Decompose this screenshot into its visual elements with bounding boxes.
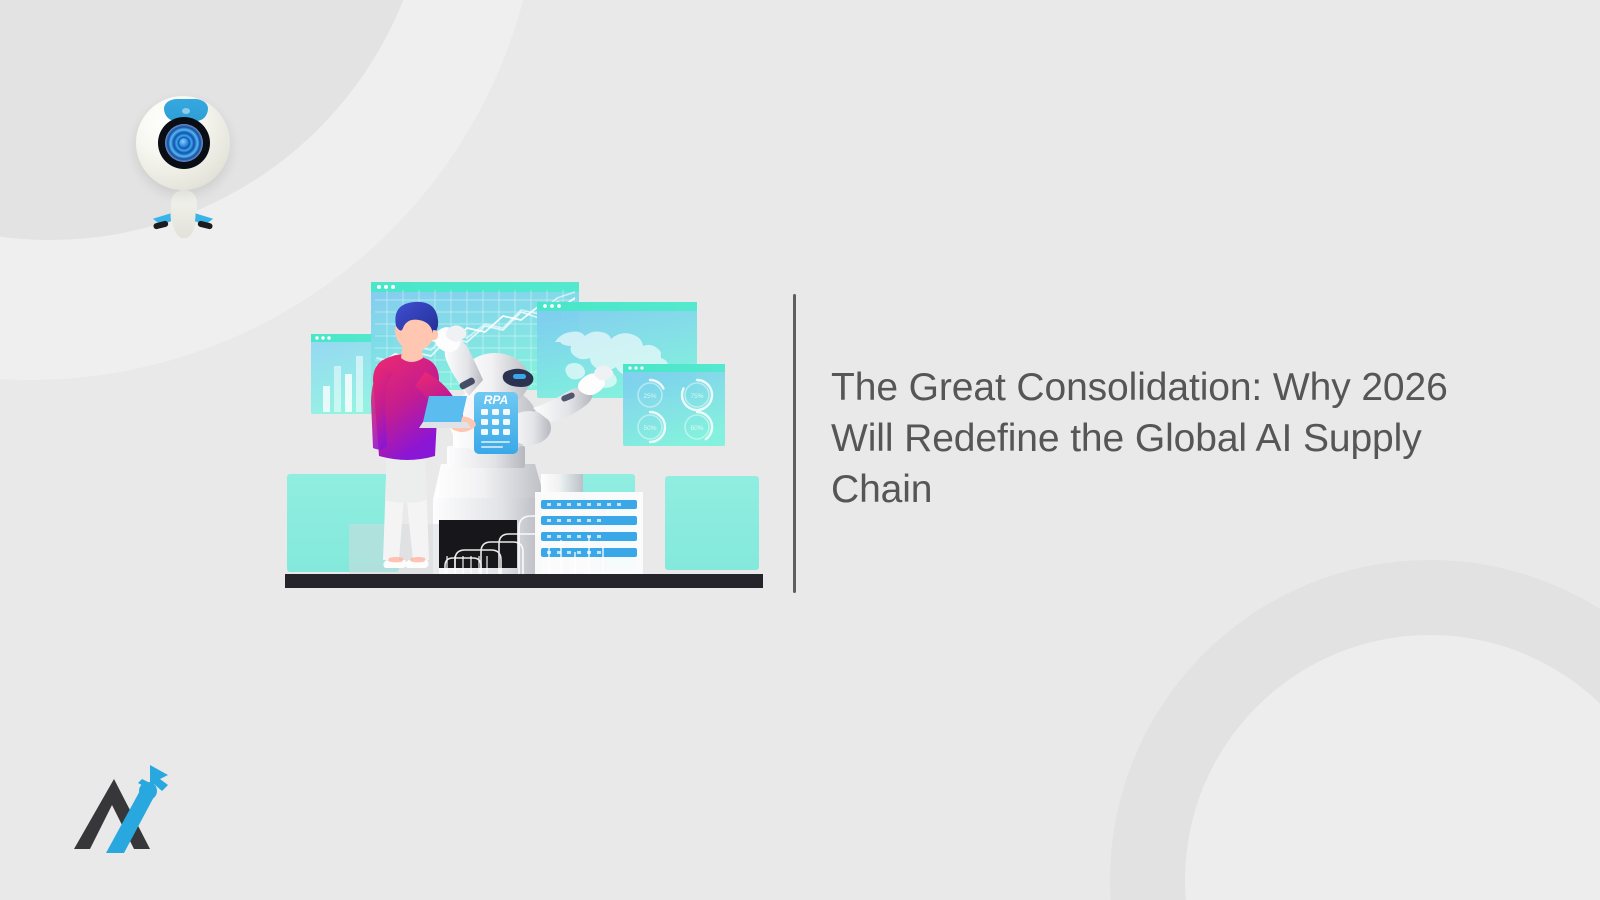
page-title: The Great Consolidation: Why 2026 Will R… xyxy=(831,362,1491,515)
brand-logo[interactable] xyxy=(72,757,176,859)
robot-mascot-foot-right xyxy=(195,213,216,227)
vertical-rule xyxy=(793,294,796,593)
rpa-automation-illustration: 25% 75% 50% 60% xyxy=(283,268,765,590)
decorative-circle-bottom-right-outer xyxy=(1110,560,1600,900)
decorative-circle-bottom-right-inner xyxy=(1185,635,1600,900)
robot-mascot-body xyxy=(171,190,197,238)
gauge-label: 25% xyxy=(643,393,656,400)
robot-mascot xyxy=(133,84,233,249)
gauges-panel: 25% 75% 50% 60% xyxy=(623,364,725,446)
gauge-label: 75% xyxy=(690,393,703,400)
robot-mascot-pupil xyxy=(179,138,189,148)
robot-mascot-legs xyxy=(155,184,213,244)
robot-mascot-foot-left xyxy=(151,213,172,227)
cover-stage: 25% 75% 50% 60% xyxy=(0,0,1600,900)
gauge-label: 50% xyxy=(643,425,656,432)
illustration-floor xyxy=(285,574,763,588)
server-rack xyxy=(535,492,643,574)
robot-mascot-eye-icon xyxy=(158,117,210,169)
rpa-label: RPA xyxy=(484,393,508,407)
robot-mascot-head xyxy=(136,96,230,190)
rpa-tablet: RPA xyxy=(474,392,518,454)
gauge-label: 60% xyxy=(690,425,703,432)
robot-mascot-iris xyxy=(165,124,203,162)
